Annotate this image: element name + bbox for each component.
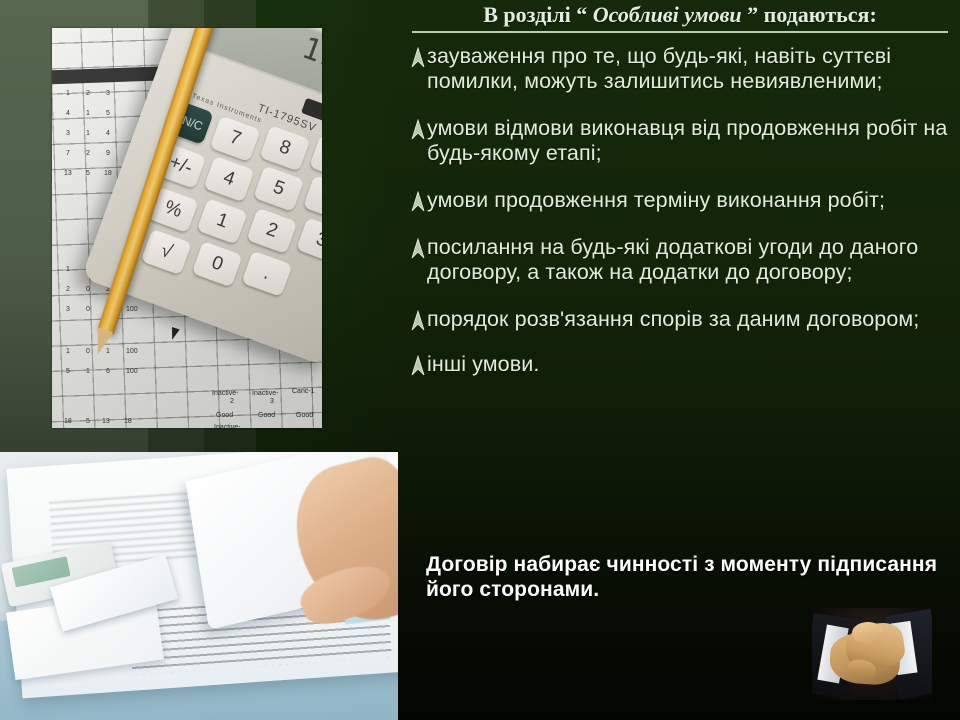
list-item: зауваження про те, що будь-які, навіть с…	[406, 44, 958, 94]
calculator-key-6: 6	[303, 175, 322, 221]
bullet-list: зауваження про те, що будь-які, навіть с…	[406, 44, 958, 391]
hand-turning-documents-photo	[0, 452, 398, 720]
calculator-key-sqrt: √	[141, 229, 192, 275]
list-item: інші умови.	[406, 352, 958, 377]
calculator-key-3: 3	[296, 217, 322, 263]
list-item: порядок розв'язання спорів за даним дого…	[406, 307, 958, 332]
list-item-label: посилання на будь-які додаткові угоди до…	[426, 235, 958, 285]
page-title: В розділі “ Особливі умови ” подаються:	[402, 2, 958, 28]
calculator-key-4: 4	[203, 156, 254, 202]
arrowhead-bullet-icon	[410, 355, 426, 377]
calculator-key-5: 5	[253, 166, 304, 212]
calculator-key-0: 0	[192, 241, 243, 287]
title-underline	[412, 31, 948, 33]
list-item-label: зауваження про те, що будь-які, навіть с…	[426, 44, 958, 94]
arrowhead-bullet-icon	[410, 47, 426, 69]
conclusion-text: Договір набирає чинності з моменту підпи…	[426, 552, 946, 602]
page-title-quoted: Особливі умови	[593, 2, 742, 27]
page-title-after: ” подаються:	[742, 2, 877, 27]
calculator-key-7: 7	[210, 116, 261, 162]
calculator-display-value: 1201	[297, 31, 322, 91]
list-item-label: порядок розв'язання спорів за даним дого…	[426, 307, 919, 332]
calculator-key-8: 8	[259, 125, 310, 171]
arrowhead-bullet-icon	[410, 191, 426, 213]
arrowhead-bullet-icon	[410, 119, 426, 141]
calculator-key-1: 1	[197, 198, 248, 244]
page-title-before: В розділі “	[483, 2, 593, 27]
calculator-key-decimal: .	[241, 251, 292, 297]
list-item-label: інші умови.	[426, 352, 539, 377]
calculator-key-2: 2	[246, 208, 297, 254]
presentation-slide: 123 415 314 729 13518100 000 101100 2021…	[0, 0, 960, 720]
list-item-label: умови продовження терміну виконання робі…	[426, 188, 885, 213]
list-item: посилання на будь-які додаткові угоди до…	[406, 235, 958, 285]
arrowhead-bullet-icon	[410, 238, 426, 260]
list-item: умови відмови виконавця від продовження …	[406, 116, 958, 166]
list-item-label: умови відмови виконавця від продовження …	[426, 116, 958, 166]
arrowhead-bullet-icon	[410, 310, 426, 332]
list-item: умови продовження терміну виконання робі…	[406, 188, 958, 213]
handshake-photo	[812, 608, 932, 700]
knuckles	[852, 622, 884, 644]
calculator-on-spreadsheet-photo: 123 415 314 729 13518100 000 101100 2021…	[52, 28, 322, 428]
calculator-key-9: 9	[309, 135, 322, 181]
